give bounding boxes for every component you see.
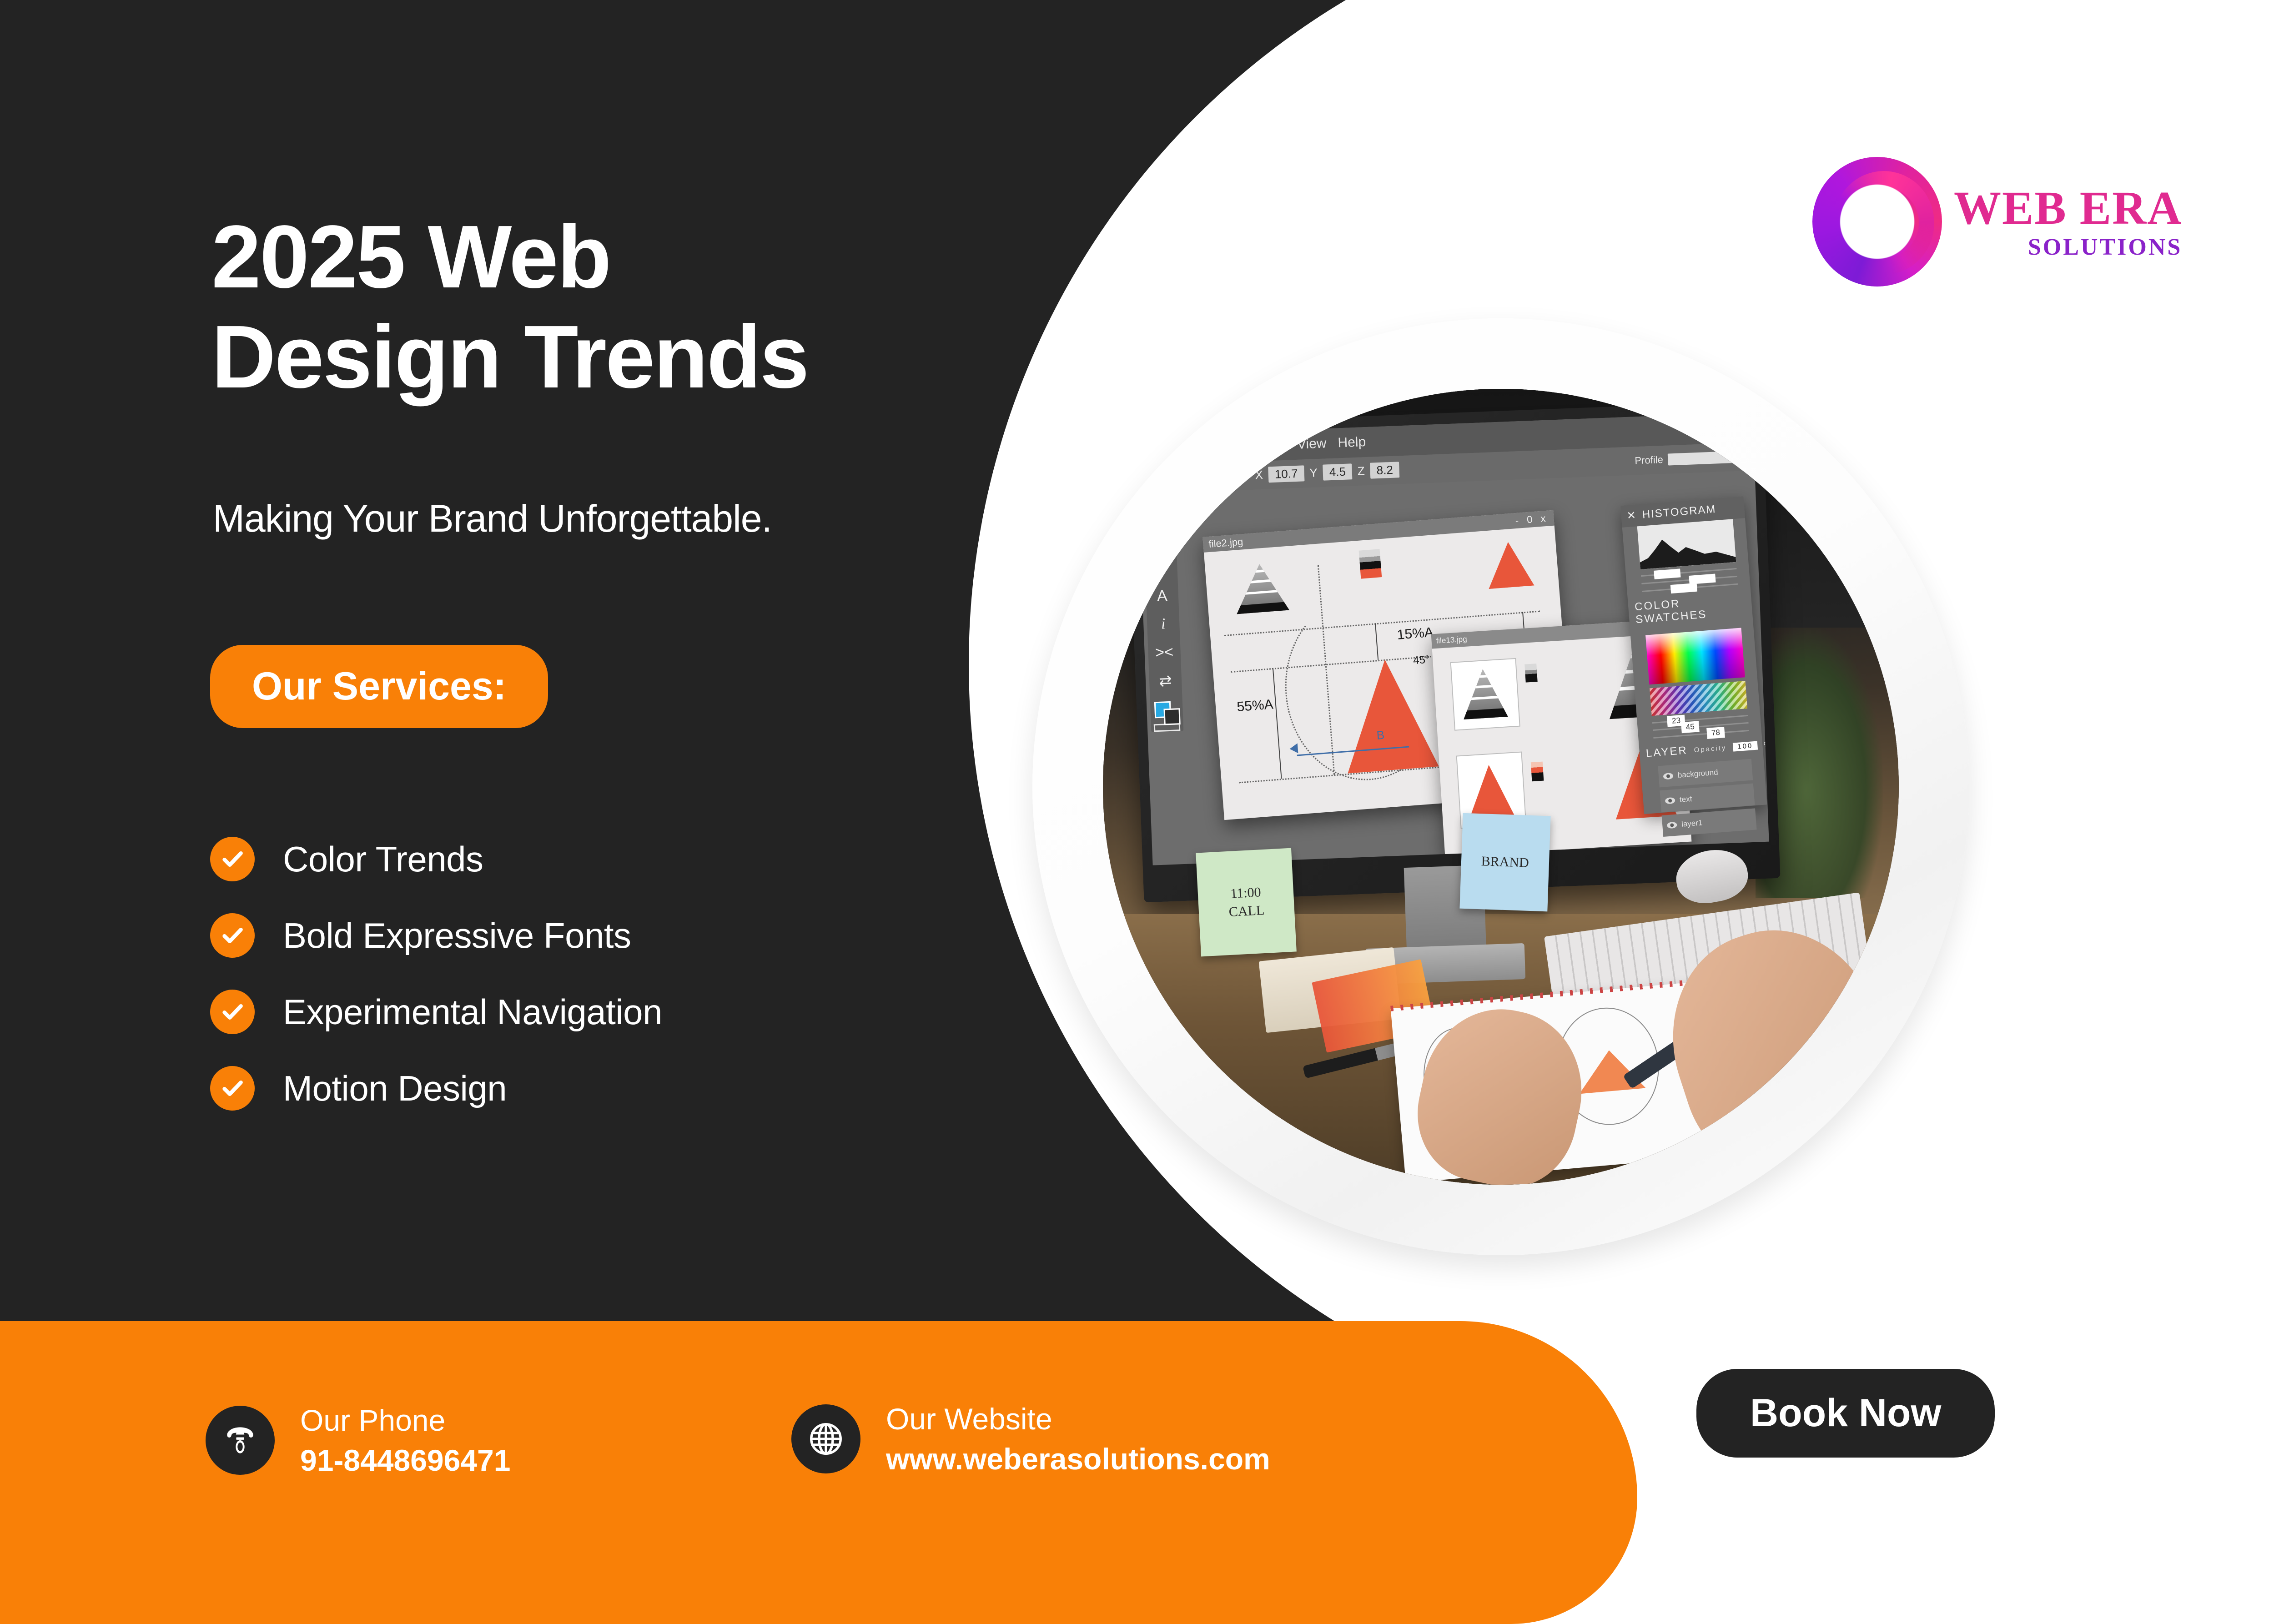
sticky-note-time: 11:00 bbox=[1230, 885, 1261, 901]
contact-website-label: Our Website bbox=[886, 1402, 1270, 1436]
page-title: 2025 Web Design Trends bbox=[211, 207, 1121, 407]
headline-line-1: 2025 Web bbox=[211, 207, 1121, 307]
designer-desk-photo: View Help X 10.7 Y 4.5 Z 8.2 Profile A i… bbox=[1103, 389, 1899, 1185]
check-icon bbox=[210, 913, 255, 958]
annotation-15-percent: 15%A bbox=[1397, 624, 1434, 643]
eye-icon bbox=[1667, 822, 1677, 829]
layer-title: LAYER bbox=[1645, 744, 1688, 760]
annotation-55-percent: 55%A bbox=[1236, 697, 1273, 715]
coord-z-axis: Z bbox=[1357, 464, 1365, 479]
histogram-graph bbox=[1637, 519, 1736, 569]
promo-banner: View Help X 10.7 Y 4.5 Z 8.2 Profile A i… bbox=[0, 0, 2274, 1624]
histogram-title: HISTOGRAM bbox=[1642, 503, 1717, 521]
contact-phone[interactable]: Our Phone 91-8448696471 bbox=[206, 1403, 510, 1478]
circular-ring-logo-icon bbox=[1812, 157, 1942, 287]
doc1-titlebar: file2.jpg - 0 x bbox=[1203, 510, 1555, 553]
sticky-note-brand: BRAND bbox=[1459, 813, 1550, 912]
list-item-label: Experimental Navigation bbox=[283, 991, 662, 1033]
globe-icon bbox=[791, 1404, 860, 1473]
contact-website-value: www.weberasolutions.com bbox=[886, 1442, 1270, 1476]
monitor-screen: View Help X 10.7 Y 4.5 Z 8.2 Profile A i… bbox=[1136, 412, 1769, 865]
services-list: Color Trends Bold Expressive Fonts Exper… bbox=[210, 837, 662, 1142]
list-item: Bold Expressive Fonts bbox=[210, 913, 662, 958]
coord-x-axis: X bbox=[1255, 468, 1263, 483]
brand-tagline: SOLUTIONS bbox=[1954, 236, 2182, 259]
color-swatch-grid bbox=[1650, 681, 1748, 716]
layer-name: text bbox=[1680, 794, 1693, 804]
our-services-pill: Our Services: bbox=[210, 645, 548, 728]
doc2-title: file13.jpg bbox=[1436, 634, 1467, 645]
doc1-title: file2.jpg bbox=[1208, 536, 1244, 550]
layer-row: background bbox=[1658, 759, 1753, 787]
headline-line-2: Design Trends bbox=[211, 307, 1121, 407]
app-right-panel: ✕ HISTOGRAM COLOR SWATCHES 23 45 78 LAYE… bbox=[1621, 496, 1768, 814]
profile-label: Profile bbox=[1635, 454, 1663, 467]
brand-logo[interactable]: WEB ERA SOLUTIONS bbox=[1812, 157, 2182, 287]
contact-phone-value: 91-8448696471 bbox=[300, 1443, 510, 1478]
coord-z-value: 8.2 bbox=[1370, 462, 1399, 479]
contact-phone-text: Our Phone 91-8448696471 bbox=[300, 1403, 510, 1478]
profile-control: Profile bbox=[1635, 451, 1736, 467]
menu-view: View bbox=[1297, 436, 1327, 452]
check-icon bbox=[210, 990, 255, 1034]
coord-x-value: 10.7 bbox=[1268, 466, 1304, 483]
check-icon bbox=[210, 837, 255, 881]
list-item: Color Trends bbox=[210, 837, 662, 881]
profile-input bbox=[1667, 451, 1736, 466]
info-tool-icon: i bbox=[1161, 616, 1166, 632]
telephone-icon bbox=[206, 1406, 275, 1475]
sticky-note-text: BRAND bbox=[1481, 854, 1529, 871]
coord-y-axis: Y bbox=[1309, 466, 1318, 481]
subheadline: Making Your Brand Unforgettable. bbox=[213, 497, 772, 541]
annotation-45-degrees: 45° bbox=[1413, 653, 1430, 667]
list-item-label: Motion Design bbox=[283, 1068, 507, 1109]
slider-value-2: 45 bbox=[1681, 721, 1700, 734]
sticky-note-text: CALL bbox=[1228, 903, 1265, 920]
crop-tool-icon: >< bbox=[1155, 644, 1174, 660]
brand-name: WEB ERA bbox=[1954, 185, 2182, 232]
annotation-b: B bbox=[1376, 728, 1385, 742]
color-spectrum bbox=[1645, 628, 1745, 685]
opacity-label: Opacity bbox=[1694, 744, 1727, 754]
list-item-label: Color Trends bbox=[283, 839, 483, 880]
layer-name: background bbox=[1678, 768, 1719, 780]
list-item: Motion Design bbox=[210, 1066, 662, 1111]
coord-y-value: 4.5 bbox=[1323, 464, 1352, 481]
book-now-button[interactable]: Book Now bbox=[1696, 1369, 1995, 1458]
swatch-slider-1: 23 bbox=[1652, 715, 1748, 724]
swap-tool-icon: ⇄ bbox=[1159, 673, 1172, 689]
menu-help: Help bbox=[1338, 434, 1366, 451]
contact-website[interactable]: Our Website www.weberasolutions.com bbox=[791, 1402, 1270, 1476]
opacity-value: 100 bbox=[1733, 741, 1758, 751]
eye-icon bbox=[1665, 797, 1675, 804]
list-item-label: Bold Expressive Fonts bbox=[283, 915, 631, 956]
sticky-note-call: 11:00 CALL bbox=[1196, 848, 1297, 956]
list-item: Experimental Navigation bbox=[210, 990, 662, 1034]
slider-value-3: 78 bbox=[1707, 727, 1726, 739]
layer-name: layer1 bbox=[1681, 819, 1703, 829]
tools-icon: ✕ bbox=[1626, 509, 1637, 523]
brand-logo-text: WEB ERA SOLUTIONS bbox=[1954, 185, 2182, 259]
color-squares-icon bbox=[1154, 701, 1178, 711]
check-icon bbox=[210, 1066, 255, 1111]
contact-phone-label: Our Phone bbox=[300, 1403, 510, 1438]
eye-icon bbox=[1663, 773, 1674, 780]
app-toolbar: A i >< ⇄ bbox=[1144, 550, 1183, 732]
doc1-window-controls: - 0 x bbox=[1515, 512, 1549, 527]
contact-website-text: Our Website www.weberasolutions.com bbox=[886, 1402, 1270, 1476]
layer-row: text bbox=[1660, 784, 1755, 812]
text-tool-icon: A bbox=[1157, 588, 1167, 604]
